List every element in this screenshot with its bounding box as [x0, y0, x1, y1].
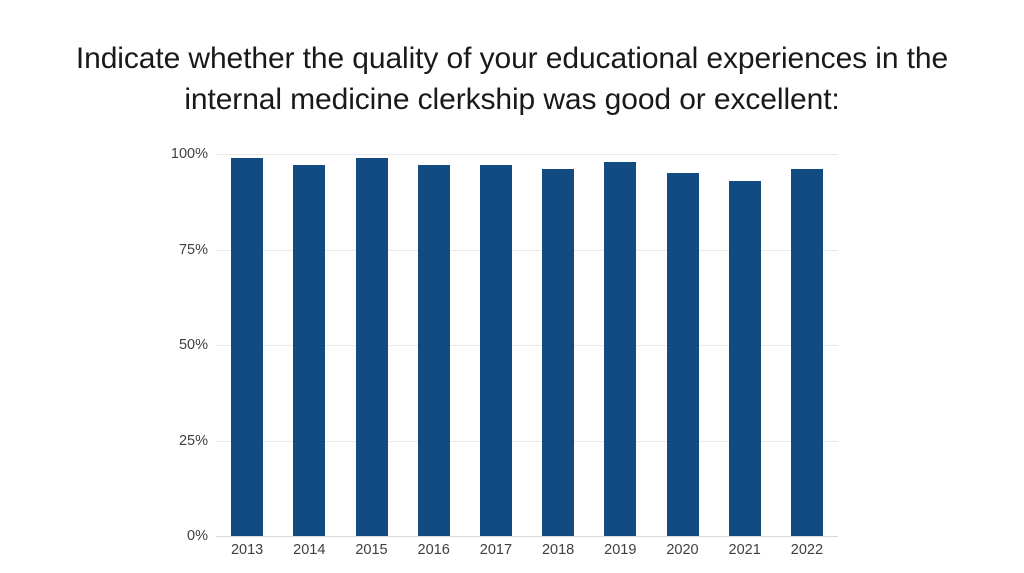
y-axis-tick-label: 0% [150, 529, 208, 543]
gridline [216, 536, 838, 537]
x-axis-tick-label: 2016 [418, 540, 450, 560]
bar-2015 [356, 158, 388, 536]
y-axis-tick-label: 50% [150, 338, 208, 352]
x-axis-tick-label: 2014 [293, 540, 325, 560]
y-axis-tick-label: 75% [150, 243, 208, 257]
bar-2018 [542, 169, 574, 536]
x-axis-tick-label: 2013 [231, 540, 263, 560]
bar-2021 [729, 181, 761, 536]
x-axis-tick-label: 2019 [604, 540, 636, 560]
y-axis-tick-label: 25% [150, 434, 208, 448]
x-axis-tick-label: 2015 [355, 540, 387, 560]
bar-2022 [791, 169, 823, 536]
bar-2019 [604, 162, 636, 536]
slide-canvas: Indicate whether the quality of your edu… [0, 0, 1024, 573]
bar-2014 [293, 165, 325, 536]
plot-area [216, 154, 838, 536]
x-axis-tick-label: 2022 [791, 540, 823, 560]
x-axis-tick-label: 2017 [480, 540, 512, 560]
bar-series [216, 154, 838, 536]
x-axis-tick-label: 2018 [542, 540, 574, 560]
y-axis-tick-label: 100% [150, 147, 208, 161]
bar-2017 [480, 165, 512, 536]
bar-2013 [231, 158, 263, 536]
x-axis: 2013201420152016201720182019202020212022 [216, 540, 838, 566]
x-axis-tick-label: 2021 [729, 540, 761, 560]
y-axis: 0%25%50%75%100% [150, 154, 208, 536]
bar-2016 [418, 165, 450, 536]
bar-2020 [667, 173, 699, 536]
x-axis-tick-label: 2020 [666, 540, 698, 560]
bar-chart: 0%25%50%75%100% 201320142015201620172018… [0, 0, 1024, 573]
